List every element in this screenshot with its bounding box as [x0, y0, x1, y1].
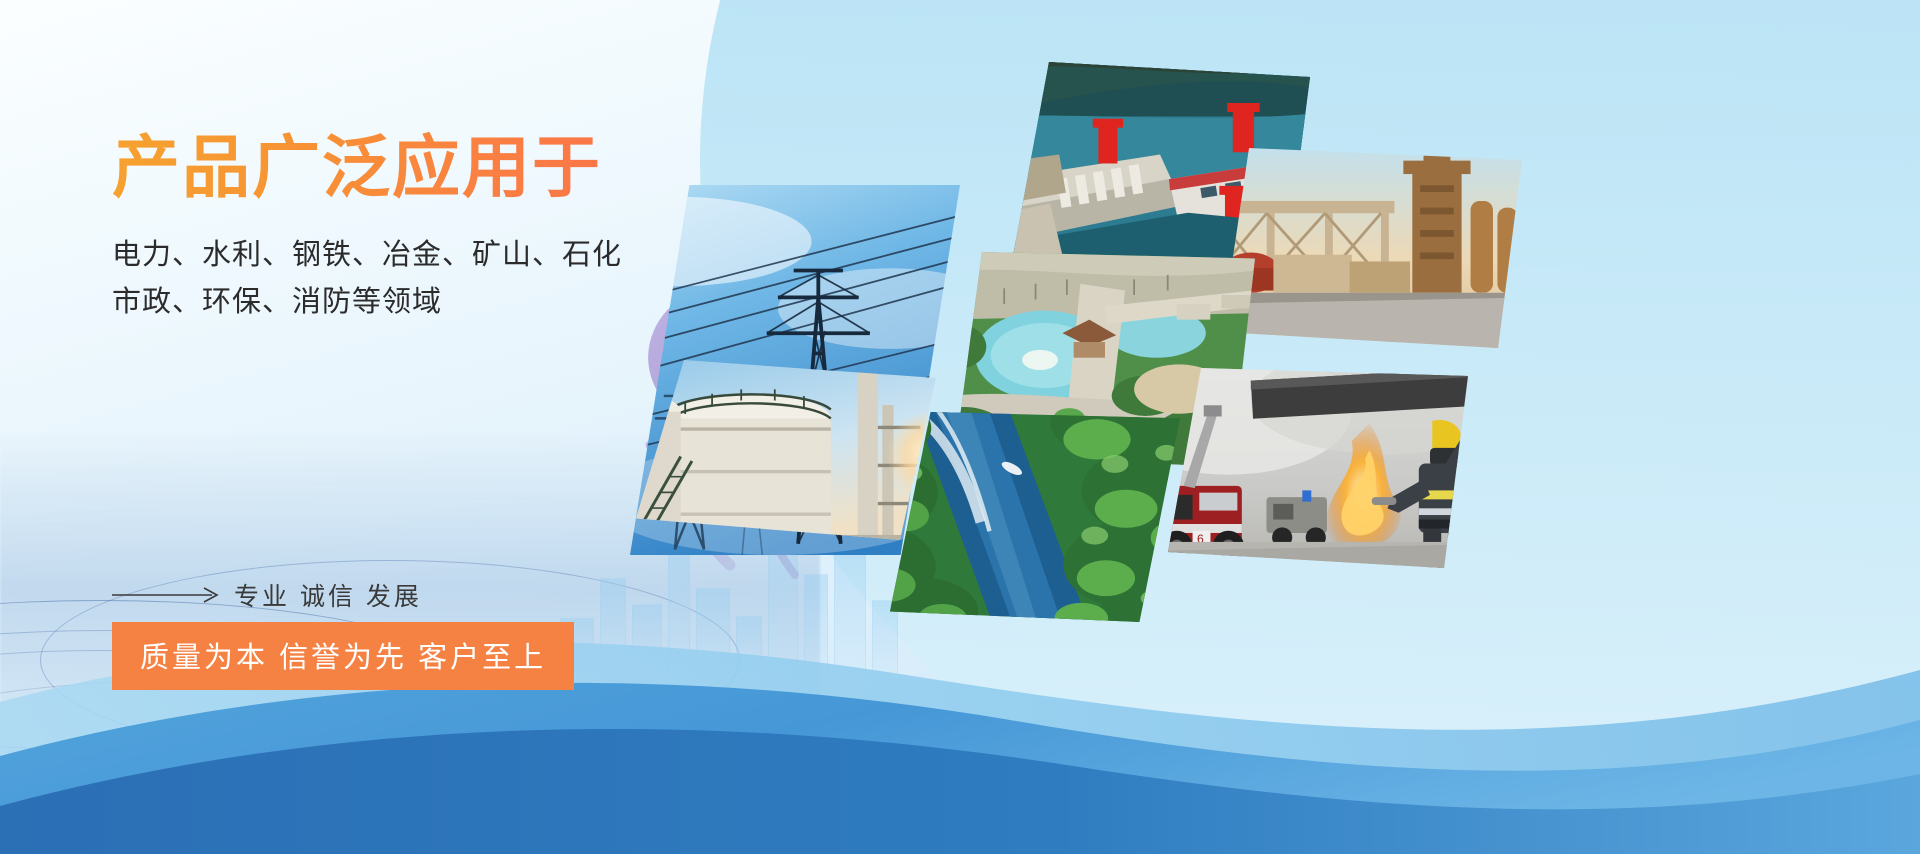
motto-text: 专业 诚信 发展 — [234, 577, 422, 613]
subtitle-line-2: 市政、环保、消防等领域 — [112, 279, 752, 326]
photo-petrochemical-tanks — [636, 360, 936, 540]
subtitle-block: 电力、水利、钢铁、冶金、矿山、石化 市政、环保、消防等领域 — [112, 232, 752, 326]
banner-copy-block: 产品广泛应用于 电力、水利、钢铁、冶金、矿山、石化 市政、环保、消防等领域 — [112, 130, 752, 326]
motto-row: 专业 诚信 发展 — [112, 577, 422, 613]
subtitle-line-1: 电力、水利、钢铁、冶金、矿山、石化 — [112, 232, 752, 279]
long-right-arrow-icon — [112, 585, 224, 605]
slogan-badge: 质量为本 信誉为先 客户至上 — [112, 622, 574, 690]
photo-steel-metallurgy-plant — [1222, 148, 1522, 348]
promotional-banner: 6 — [0, 0, 1920, 854]
page-title: 产品广泛应用于 — [112, 130, 752, 206]
